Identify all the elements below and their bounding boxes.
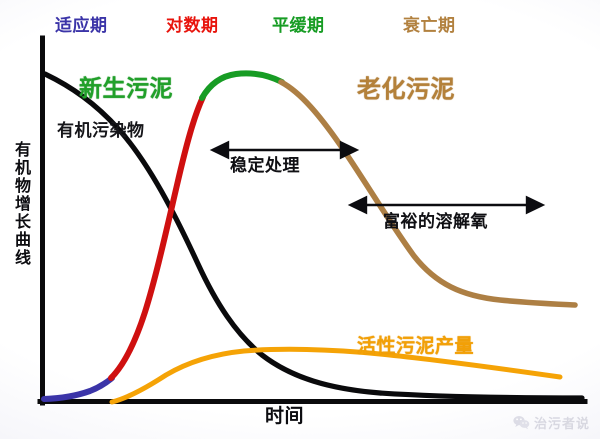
watermark-text: 治污者说 — [534, 413, 590, 432]
watermark: 治污者说 — [513, 413, 590, 432]
wechat-icon — [513, 415, 530, 430]
chart-plot-area — [0, 0, 600, 439]
phase-label-decline: 衰亡期 — [403, 18, 456, 35]
series-label-old-sludge: 老化污泥 — [357, 77, 455, 101]
series-label-new-sludge: 新生污泥 — [79, 78, 173, 101]
annotation-label-stable-treatment: 稳定处理 — [230, 158, 300, 175]
series-label-organic-pollutants: 有机污染物 — [57, 123, 145, 140]
phase-label-stationary: 平缓期 — [272, 18, 325, 35]
growth-segment-decline — [281, 82, 575, 305]
series-label-sludge-yield: 活性污泥产量 — [357, 337, 474, 356]
growth-segment-adaptation — [44, 378, 112, 399]
series-sludge-yield — [112, 349, 560, 402]
x-axis-title: 时间 — [265, 407, 304, 426]
phase-label-adaptation: 适应期 — [55, 18, 108, 35]
phase-label-log: 对数期 — [166, 18, 219, 35]
growth-curve-chart: 适应期 对数期 平缓期 衰亡期 新生污泥 有机污染物 老化污泥 活性污泥产量 稳… — [0, 0, 600, 439]
growth-segment-stationary — [202, 73, 282, 98]
y-axis-title: 有机物增长曲线 — [7, 141, 29, 267]
annotation-label-abundant-oxygen: 富裕的溶解氧 — [383, 214, 488, 231]
